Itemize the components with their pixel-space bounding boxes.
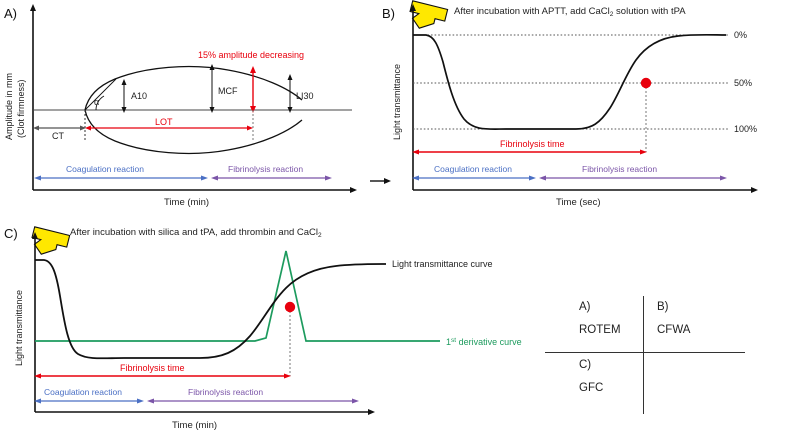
panel-c-fibrinolysis-label: Fibrinolysis reaction bbox=[188, 387, 263, 397]
panel-c-fibrinolysis-arrow-left bbox=[147, 399, 154, 404]
panel-c-gfc: C) After incubation with silica and tPA,… bbox=[0, 216, 560, 434]
panel-a-ct-label: CT bbox=[52, 131, 64, 141]
panel-a-decrease-label: 15% amplitude decreasing bbox=[198, 50, 304, 60]
panel-b-header-pre: After incubation with APTT, add CaCl bbox=[454, 6, 610, 17]
panel-c-coagulation-arrow-right bbox=[137, 399, 144, 404]
panel-a-lower-curve bbox=[85, 110, 302, 153]
panel-c-svg: C) After incubation with silica and tPA,… bbox=[0, 216, 560, 434]
panel-a-mcf-label: MCF bbox=[218, 86, 238, 96]
panel-a-a10-label: A10 bbox=[131, 91, 147, 101]
panel-b-tick-100: 100% bbox=[734, 124, 757, 134]
panel-c-y-axis-title: Light transmittance bbox=[14, 290, 24, 366]
panel-a-li30-label: LI30 bbox=[296, 91, 314, 101]
legend-table-vertical-divider bbox=[643, 296, 644, 414]
panel-a-coagulation-label: Coagulation reaction bbox=[66, 164, 144, 174]
panel-c-x-axis-title: Time (min) bbox=[172, 420, 217, 431]
panel-b-x-axis-title: Time (sec) bbox=[556, 197, 601, 208]
panel-b-svg: B) After incubation with APTT, add CaCl2… bbox=[378, 0, 789, 210]
panel-b-header-post: solution with tPA bbox=[613, 6, 686, 17]
panel-a-rotem: A) α A10 MCF bbox=[0, 0, 380, 210]
panel-b-coagulation-label: Coagulation reaction bbox=[434, 164, 512, 174]
panel-a-letter: A) bbox=[4, 6, 17, 21]
panel-a-decrease-arrow-top bbox=[250, 66, 256, 73]
panel-b-header: After incubation with APTT, add CaCl2 so… bbox=[454, 6, 686, 18]
panel-b-cfwa: B) After incubation with APTT, add CaCl2… bbox=[378, 0, 789, 210]
legend-cell-a-value: ROTEM bbox=[579, 323, 621, 338]
panel-a-alpha-ray bbox=[85, 79, 116, 110]
panel-b-x-arrowhead bbox=[751, 187, 758, 193]
panel-b-letter: B) bbox=[382, 6, 395, 21]
panel-a-fibrinolysis-arrow-right bbox=[325, 176, 332, 181]
panel-a-y-axis-title-line1: Amplitude in mm bbox=[4, 73, 14, 140]
panel-b-fibrinolysis-time-label: Fibrinolysis time bbox=[500, 139, 565, 149]
panel-a-lot-arrow-left bbox=[85, 126, 91, 131]
panel-a-lot-label: LOT bbox=[155, 117, 173, 127]
panel-c-x-arrowhead bbox=[368, 409, 375, 415]
panel-c-legend-derivative-post: derivative curve bbox=[456, 337, 522, 347]
legend-cell-c-key: C) bbox=[579, 358, 591, 373]
panel-b-fibrinolysis-arrow-left bbox=[539, 176, 546, 181]
panel-b-fibrinolysis-arrow-right bbox=[720, 176, 727, 181]
panel-c-header-pre: After incubation with silica and tPA, ad… bbox=[70, 227, 318, 238]
panel-b-y-axis-title: Light transmittance bbox=[392, 64, 402, 140]
panel-c-transmittance-curve bbox=[35, 260, 386, 358]
panel-b-coagulation-arrow-right bbox=[529, 176, 536, 181]
panel-a-svg: A) α A10 MCF bbox=[0, 0, 380, 210]
panel-c-header: After incubation with silica and tPA, ad… bbox=[70, 227, 322, 239]
panel-a-coagulation-arrow-left bbox=[34, 176, 41, 181]
panel-a-x-axis-title: Time (min) bbox=[164, 197, 209, 208]
panel-c-coagulation-label: Coagulation reaction bbox=[44, 387, 122, 397]
panel-c-fibrinolysis-time-arrow-right bbox=[284, 374, 291, 379]
panel-a-y-arrowhead bbox=[30, 4, 36, 11]
panel-c-fibrinolysis-time-label: Fibrinolysis time bbox=[120, 363, 185, 373]
panel-a-coagulation-arrow-right bbox=[201, 176, 208, 181]
legend-cell-b-key: B) bbox=[657, 300, 669, 315]
panel-b-tick-0: 0% bbox=[734, 30, 747, 40]
panel-a-li30-arrow-top bbox=[288, 74, 293, 80]
panel-c-fibrinolysis-arrow-right bbox=[352, 399, 359, 404]
panel-c-lysis-marker bbox=[285, 302, 295, 312]
legend-cell-a-key: A) bbox=[579, 300, 591, 315]
panel-b-fibrinolysis-time-arrow-right bbox=[640, 150, 647, 155]
legend-table: A) ROTEM B) CFWA C) GFC bbox=[565, 296, 745, 414]
panel-c-letter: C) bbox=[4, 226, 18, 241]
panel-a-y-axis-title-line2: (Clot firmness) bbox=[16, 79, 26, 138]
panel-c-legend-derivative: 1st derivative curve bbox=[446, 337, 522, 347]
panel-b-lysis-marker bbox=[641, 78, 651, 88]
panel-a-lot-arrow-right bbox=[247, 126, 253, 131]
panel-a-ct-arrow-left bbox=[33, 126, 39, 131]
panel-b-fibrinolysis-label: Fibrinolysis reaction bbox=[582, 164, 657, 174]
panel-c-legend-transmittance: Light transmittance curve bbox=[392, 259, 493, 269]
panel-a-alpha-label: α bbox=[94, 97, 99, 107]
panel-b-tick-50: 50% bbox=[734, 78, 752, 88]
panel-a-x-arrowhead bbox=[350, 187, 357, 193]
panel-a-fibrinolysis-label: Fibrinolysis reaction bbox=[228, 164, 303, 174]
legend-cell-c-value: GFC bbox=[579, 381, 603, 396]
panel-b-transmittance-curve bbox=[413, 35, 726, 129]
legend-table-horizontal-divider bbox=[545, 352, 745, 353]
panel-a-fibrinolysis-arrow-left bbox=[211, 176, 218, 181]
panel-a-upper-curve bbox=[85, 67, 302, 110]
panel-c-header-sub: 2 bbox=[318, 232, 322, 239]
panel-a-a10-arrow-top bbox=[122, 79, 127, 85]
panel-b-inbound-arrowhead bbox=[384, 178, 391, 184]
legend-cell-b-value: CFWA bbox=[657, 323, 690, 338]
figure-root: A) α A10 MCF bbox=[0, 0, 789, 434]
